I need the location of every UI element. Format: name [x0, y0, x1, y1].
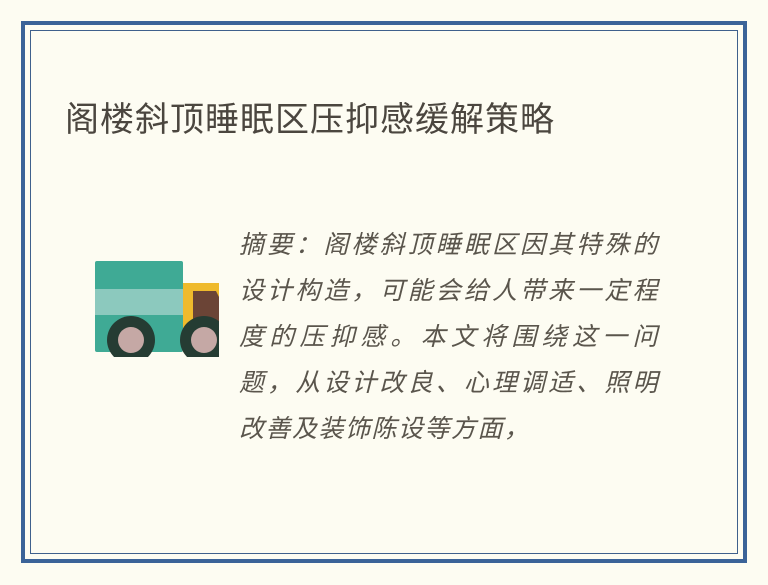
delivery-truck-icon — [69, 227, 219, 357]
truck-rear-hub — [118, 327, 144, 353]
truck-cargo-stripe — [95, 289, 183, 315]
abstract-paragraph: 摘要：阁楼斜顶睡眠区因其特殊的设计构造，可能会给人带来一定程度的压抑感。本文将围… — [239, 223, 659, 453]
document-card-frame: 阁楼斜顶睡眠区压抑感缓解策略 摘要：阁楼斜顶睡眠区因其特殊的设计构造 — [21, 21, 747, 563]
truck-front-hub — [191, 327, 217, 353]
delivery-truck-illustration — [69, 227, 219, 357]
document-card-inner-border: 阁楼斜顶睡眠区压抑感缓解策略 摘要：阁楼斜顶睡眠区因其特殊的设计构造 — [30, 30, 738, 554]
page-title: 阁楼斜顶睡眠区压抑感缓解策略 — [65, 98, 705, 142]
